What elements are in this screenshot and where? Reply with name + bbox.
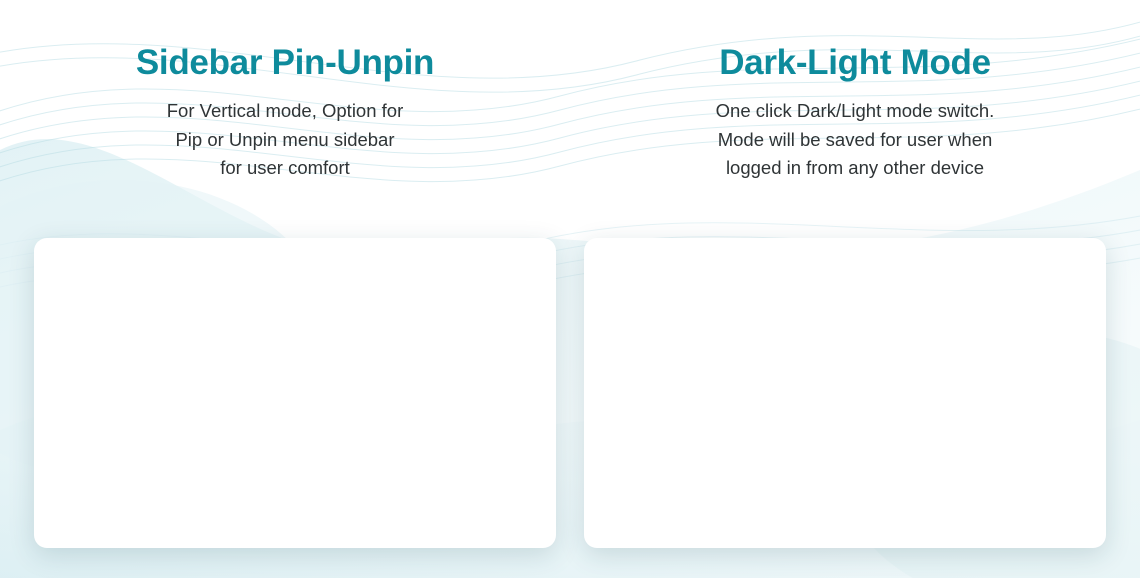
headings-row: Sidebar Pin-Unpin For Vertical mode, Opt… (0, 0, 1140, 230)
app-screenshot-light-mode[interactable] (584, 238, 1106, 548)
subtitle-line: One click Dark/Light mode switch. (570, 97, 1140, 126)
promo-page: Sidebar Pin-Unpin For Vertical mode, Opt… (0, 0, 1140, 578)
subtitle-line: Mode will be saved for user when (570, 126, 1140, 155)
heading-column-right: Dark-Light Mode One click Dark/Light mod… (570, 0, 1140, 230)
subtitle-line: logged in from any other device (570, 154, 1140, 183)
app-screenshot-light-pinned[interactable] (34, 238, 556, 548)
screenshots-row (0, 238, 1140, 578)
page-subtitle-right: One click Dark/Light mode switch.Mode wi… (570, 97, 1140, 183)
page-title-left: Sidebar Pin-Unpin (0, 42, 570, 84)
page-title-right: Dark-Light Mode (570, 42, 1140, 84)
heading-column-left: Sidebar Pin-Unpin For Vertical mode, Opt… (0, 0, 570, 230)
page-subtitle-left: For Vertical mode, Option forPip or Unpi… (0, 97, 570, 183)
subtitle-line: for user comfort (0, 154, 570, 183)
subtitle-line: For Vertical mode, Option for (0, 97, 570, 126)
subtitle-line: Pip or Unpin menu sidebar (0, 126, 570, 155)
